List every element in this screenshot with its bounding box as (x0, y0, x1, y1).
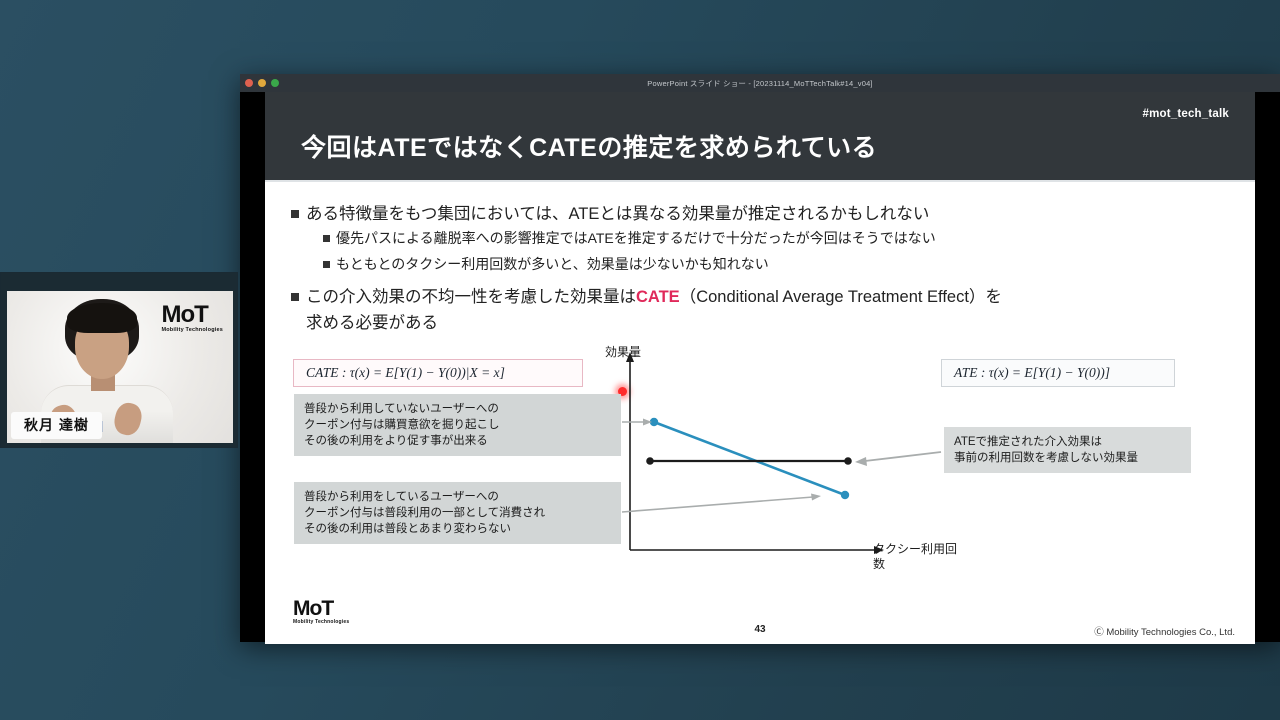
cate-line2-text: 求める必要がある (291, 310, 1221, 336)
note-line: 普段から利用をしているユーザーへの (304, 489, 611, 505)
mot-logo-wordmark: MoT (293, 598, 349, 619)
note-line: クーポン付与は購買意欲を掘り起こし (304, 417, 611, 433)
bullet-square-icon (323, 261, 330, 268)
ate-formula-box: ATE : τ(x) = E[Y(1) − Y(0))] (941, 359, 1175, 387)
chart-x-axis-label: タクシー利用回数 (873, 542, 963, 572)
bullet-square-icon (291, 210, 299, 218)
cate-prefix-text: この介入効果の不均一性を考慮した効果量は (306, 288, 636, 306)
mot-logo-webcam: MoT Mobility Technologies (161, 303, 223, 333)
note-line: ATEで推定された介入効果は (954, 434, 1181, 450)
window-titlebar[interactable]: PowerPoint スライド ショー - [20231114_MoTTechT… (240, 74, 1280, 92)
slide-body: ある特徴量をもつ集団においては、ATEとは異なる効果量が推定されるかもしれない … (265, 182, 1255, 620)
cate-keyword: CATE (636, 288, 680, 306)
chart-y-axis-label: 効果量 (605, 345, 641, 360)
window-traffic-lights[interactable] (245, 79, 279, 87)
cate-formula-box: CATE : τ(x) = E[Y(1) − Y(0))|X = x] (293, 359, 583, 387)
mot-logo-footer: MoT Mobility Technologies (293, 598, 349, 625)
cate-suffix-text: （Conditional Average Treatment Effect）を (680, 288, 1002, 306)
note-line: クーポン付与は普段利用の一部として消費され (304, 505, 611, 521)
note-right-ate: ATEで推定された介入効果は 事前の利用回数を考慮しない効果量 (944, 427, 1191, 473)
slide-footer: MoT Mobility Technologies 43 Ⓒ Mobility … (265, 620, 1255, 644)
presentation-slide[interactable]: #mot_tech_talk 今回はATEではなくCATEの推定を求められている… (265, 92, 1255, 642)
copyright-text: Ⓒ Mobility Technologies Co., Ltd. (1094, 624, 1235, 638)
bullet-cate-definition: この介入効果の不均一性を考慮した効果量はCATE（Conditional Ave… (291, 284, 1221, 336)
note-upper-left: 普段から利用していないユーザーへの クーポン付与は購買意欲を掘り起こし その後の… (294, 394, 621, 456)
hashtag-label: #mot_tech_talk (1142, 108, 1229, 120)
mot-logo-subtext: Mobility Technologies (161, 327, 223, 333)
bullet-text: ある特徴量をもつ集団においては、ATEとは異なる効果量が推定されるかもしれない (306, 205, 929, 223)
note-lower-left: 普段から利用をしているユーザーへの クーポン付与は普段利用の一部として消費され … (294, 482, 621, 544)
maximize-window-icon[interactable] (271, 79, 279, 87)
note-line: その後の利用は普段とあまり変わらない (304, 521, 611, 537)
note-line: その後の利用をより促す事が出来る (304, 433, 611, 449)
slide-header: #mot_tech_talk 今回はATEではなくCATEの推定を求められている (265, 92, 1255, 180)
speaker-hair-front (67, 303, 137, 333)
bullet-level1-1: ある特徴量をもつ集団においては、ATEとは異なる効果量が推定されるかもしれない (291, 200, 929, 224)
bullet-text: もともとのタクシー利用回数が多いと、効果量は少ないかも知れない (336, 256, 769, 272)
bullet-level2-2: もともとのタクシー利用回数が多いと、効果量は少ないかも知れない (323, 254, 769, 274)
bullet-text: 優先パスによる離脱率への影響推定ではATEを推定するだけで十分だったが今回はそう… (336, 230, 936, 246)
window-title: PowerPoint スライド ショー - [20231114_MoTTechT… (240, 78, 1280, 89)
minimize-window-icon[interactable] (258, 79, 266, 87)
slide-title: 今回はATEではなくCATEの推定を求められている (301, 128, 877, 164)
close-window-icon[interactable] (245, 79, 253, 87)
note-line: 普段から利用していないユーザーへの (304, 401, 611, 417)
bullet-level2-1: 優先パスによる離脱率への影響推定ではATEを推定するだけで十分だったが今回はそう… (323, 228, 936, 248)
mot-logo-wordmark: MoT (161, 303, 223, 327)
webcam-video[interactable]: TAXI MoT Mobility Technologies 秋月 達樹 (7, 291, 233, 443)
powerpoint-window[interactable]: PowerPoint スライド ショー - [20231114_MoTTechT… (240, 74, 1280, 642)
speaker-name-tag: 秋月 達樹 (11, 412, 102, 439)
bullet-square-icon (323, 235, 330, 242)
bullet-square-icon (291, 293, 299, 301)
webcam-overlay[interactable]: TAXI MoT Mobility Technologies 秋月 達樹 (0, 272, 238, 448)
note-line: 事前の利用回数を考慮しない効果量 (954, 450, 1181, 466)
